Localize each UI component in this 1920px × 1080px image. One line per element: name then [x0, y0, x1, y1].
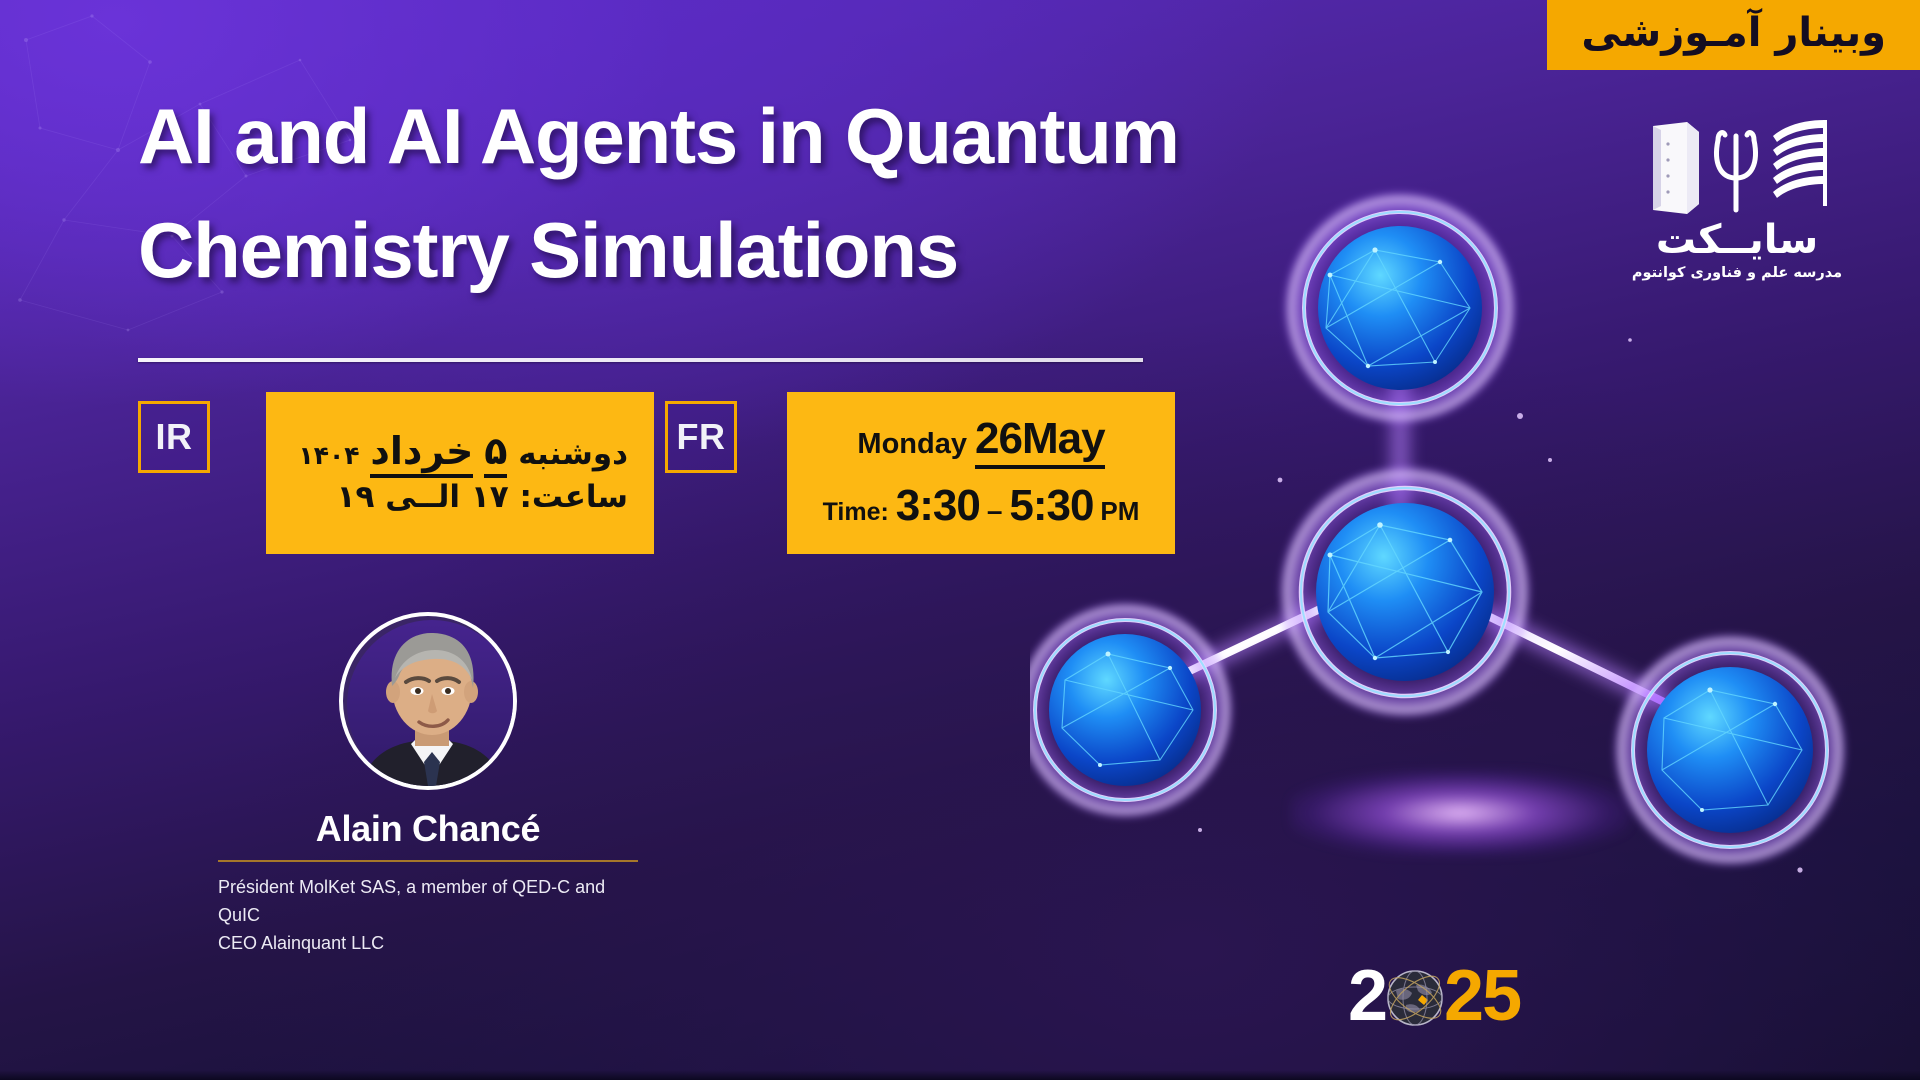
webinar-badge: وبینار آمـوزشی: [1547, 0, 1920, 70]
year-mark: 2 25: [1348, 955, 1520, 1037]
poster-title: AI and AI Agents in Quantum Chemistry Si…: [138, 80, 1318, 308]
logo-wordmark: سایــکت: [1612, 220, 1862, 260]
book-closed-icon: [1643, 120, 1703, 216]
speaker-role-line-2: CEO Alainquant LLC: [218, 930, 638, 958]
logo-marks: [1612, 108, 1862, 216]
year-suffix: 25: [1444, 955, 1520, 1037]
ir-weekday: دوشنبه: [518, 436, 628, 472]
speaker-role: Président MolKet SAS, a member of QED-C …: [218, 874, 638, 958]
ir-year: ۱۴۰۴: [299, 441, 360, 470]
speaker-block: Alain Chancé Président MolKet SAS, a mem…: [218, 612, 638, 958]
fr-meridiem: PM: [1100, 496, 1139, 526]
globe-icon: [1384, 967, 1446, 1029]
date-row-fr: FR Monday 26May Time: 3:30 – 5:30 PM: [665, 392, 1175, 554]
fr-time-to: 5:30: [1009, 481, 1093, 530]
ir-day: ۵: [484, 429, 507, 478]
speaker-role-line-1: Président MolKet SAS, a member of QED-C …: [218, 874, 638, 930]
fr-date-line: Monday 26May: [809, 410, 1153, 467]
speaker-name: Alain Chancé: [218, 808, 638, 850]
atom-right: [1612, 632, 1848, 868]
bottom-edge: [0, 1070, 1920, 1080]
psi-symbol-icon: [1709, 120, 1763, 216]
atom-left: [1030, 600, 1235, 820]
avatar: [339, 612, 517, 790]
fr-time-from: 3:30: [896, 481, 980, 530]
ir-time-label: ساعت:: [519, 479, 628, 515]
fr-date: 26May: [975, 414, 1105, 469]
lang-badge-ir: IR: [138, 401, 210, 473]
ir-time-line: ساعت: ۱۷ الــی ۱۹: [288, 477, 628, 519]
logo-subtitle: مدرسه علم و فناوری کوانتوم: [1612, 266, 1862, 281]
ir-time-join: الــی: [385, 479, 460, 515]
speaker-divider: [218, 860, 638, 862]
lang-badge-fr: FR: [665, 401, 737, 473]
date-card-ir: دوشنبه ۵ خرداد ۱۴۰۴ ساعت: ۱۷ الــی ۱۹: [266, 392, 654, 554]
ir-time-from: ۱۷: [471, 479, 509, 515]
lang-badge-ir-label: IR: [156, 416, 193, 458]
book-open-icon: [1769, 116, 1831, 216]
fr-time-line: Time: 3:30 – 5:30 PM: [809, 477, 1153, 534]
date-card-fr: Monday 26May Time: 3:30 – 5:30 PM: [787, 392, 1175, 554]
lang-badge-fr-label: FR: [677, 416, 726, 458]
title-line-1: AI and AI Agents in Quantum: [138, 80, 1318, 194]
ir-time-to: ۱۹: [337, 479, 375, 515]
title-line-2: Chemistry Simulations: [138, 194, 1318, 308]
fr-time-label: Time:: [823, 498, 889, 526]
title-divider: [138, 358, 1143, 362]
molecule-floor-glow: [1290, 770, 1630, 856]
date-row-ir: IR دوشنبه ۵ خرداد ۱۴۰۴ ساعت: ۱۷ الــی ۱۹: [138, 392, 654, 554]
webinar-badge-label: وبینار آمـوزشی: [1581, 10, 1886, 56]
webinar-poster: وبینار آمـوزشی: [0, 0, 1920, 1080]
ir-date-line: دوشنبه ۵ خرداد ۱۴۰۴: [288, 426, 628, 477]
organization-logo: سایــکت مدرسه علم و فناوری کوانتوم: [1612, 108, 1862, 281]
fr-time-dash: –: [987, 495, 1003, 526]
speaker-portrait: [343, 616, 517, 790]
ir-month: خرداد: [370, 429, 473, 478]
atom-center: [1277, 464, 1533, 720]
year-prefix: 2: [1348, 955, 1386, 1037]
fr-weekday: Monday: [857, 428, 967, 460]
